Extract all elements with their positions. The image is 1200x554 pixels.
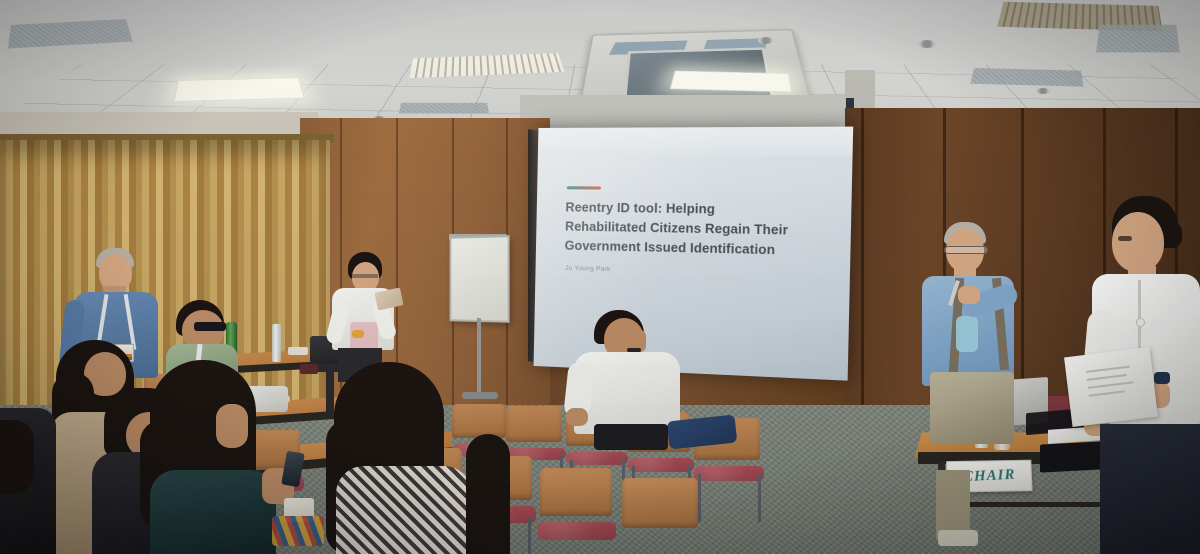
projector-lens: [280, 394, 290, 404]
podium-stand: [326, 370, 334, 416]
projection-screen: Reentry ID tool: Helping Rehabilitated C…: [534, 127, 854, 381]
ceiling-downlight-3: [1036, 88, 1050, 94]
face-mask-hanging: [956, 316, 978, 352]
ceiling-vent-right-2: [1096, 25, 1180, 53]
ceiling-downlight-2: [918, 40, 936, 48]
slide-accent-rule: [567, 186, 601, 189]
eye: [1118, 236, 1132, 241]
ceiling-vent-right: [970, 68, 1083, 87]
podium-item: [300, 364, 318, 374]
bag-colorful: [272, 516, 324, 546]
flipchart-base: [462, 392, 498, 399]
water-bottle-left: [272, 324, 281, 362]
wristwatch: [1154, 372, 1170, 384]
cup-left: [288, 347, 308, 355]
ceiling-vent-left: [8, 19, 133, 48]
eyeglasses: [944, 246, 988, 254]
eyeglasses: [352, 274, 378, 278]
ceiling-light-panel-1: [173, 77, 304, 101]
shoe-left: [938, 530, 978, 546]
slide-surface: Reentry ID tool: Helping Rehabilitated C…: [534, 127, 854, 381]
hand-left: [566, 408, 588, 426]
conference-room-photo: Reentry ID tool: Helping Rehabilitated C…: [0, 0, 1200, 554]
shirt-button: [1136, 318, 1145, 327]
slide-author: Ju Young Park: [565, 265, 610, 273]
ceiling-downlight-1: [758, 37, 774, 44]
dark-trousers: [1100, 424, 1200, 554]
seated-trousers: [594, 424, 668, 450]
held-papers: [1064, 347, 1158, 427]
chair-name-card-text: CHAIR: [962, 466, 1015, 485]
held-object-yellow: [352, 330, 364, 338]
slide-title: Reentry ID tool: Helping Rehabilitated C…: [564, 198, 803, 260]
flipchart-pole: [477, 318, 481, 396]
hand-gesture: [958, 286, 980, 304]
ceiling-light-panel-3: [670, 71, 792, 93]
sunglasses: [194, 322, 226, 331]
ceiling-vent-center: [399, 103, 489, 114]
flipchart-paper: [449, 235, 509, 323]
khaki-trousers: [930, 372, 1014, 444]
slide-header-band: [538, 127, 853, 156]
